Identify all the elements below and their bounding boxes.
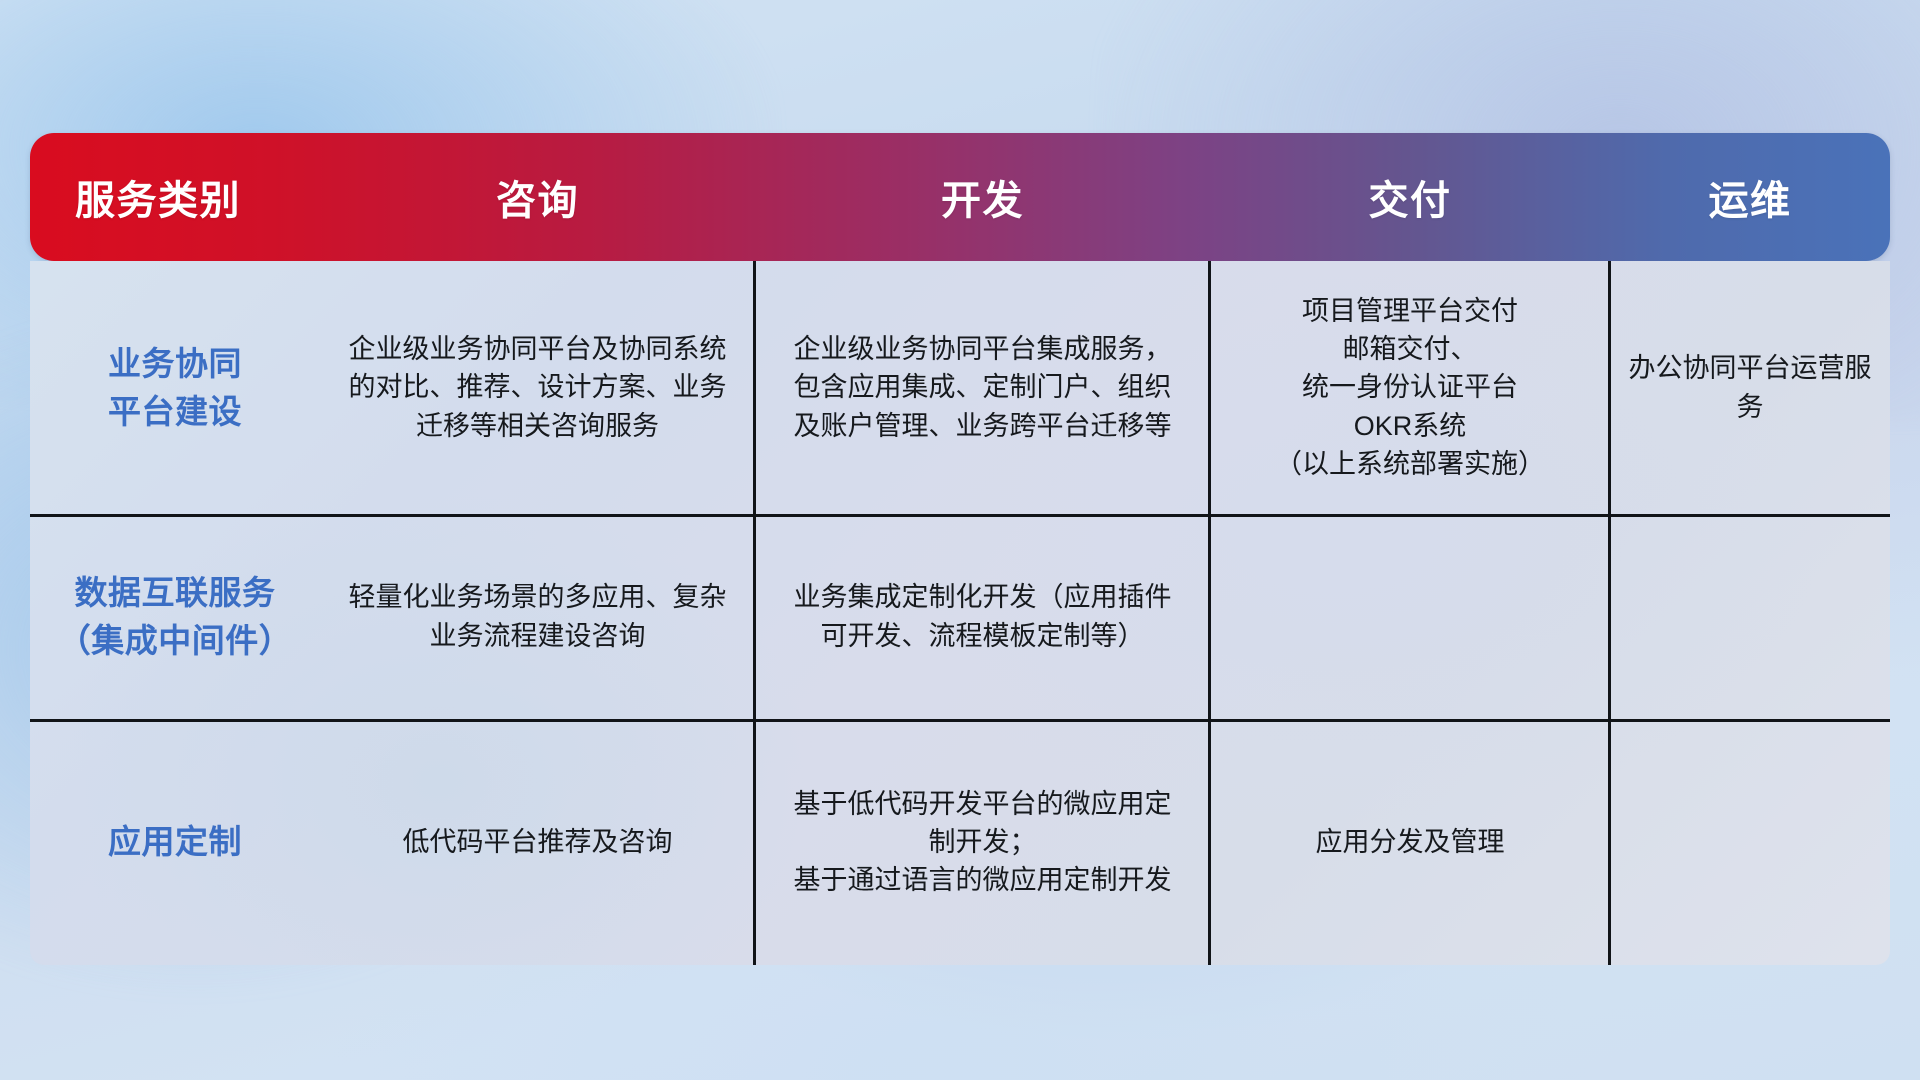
- cell-category: 数据互联服务 （集成中间件）: [30, 514, 320, 719]
- cell-delivery: 应用分发及管理: [1210, 719, 1610, 965]
- cell-operations: [1610, 719, 1890, 965]
- column-divider-1: [753, 261, 756, 965]
- cell-consulting: 轻量化业务场景的多应用、复杂业务流程建设咨询: [320, 514, 755, 719]
- table-row: 数据互联服务 （集成中间件） 轻量化业务场景的多应用、复杂业务流程建设咨询 业务…: [30, 514, 1890, 719]
- service-matrix-table: 服务类别 咨询 开发 交付 运维 业务协同 平台建设 企业级业务协同平台及协同系…: [30, 133, 1890, 965]
- column-divider-3: [1608, 261, 1611, 965]
- cell-operations: [1610, 514, 1890, 719]
- column-header-consulting: 咨询: [320, 168, 755, 226]
- cell-category: 应用定制: [30, 719, 320, 965]
- table-row: 业务协同 平台建设 企业级业务协同平台及协同系统的对比、推荐、设计方案、业务迁移…: [30, 261, 1890, 514]
- cell-development: 业务集成定制化开发（应用插件可开发、流程模板定制等）: [755, 514, 1210, 719]
- cell-consulting: 低代码平台推荐及咨询: [320, 719, 755, 965]
- column-header-development: 开发: [755, 168, 1210, 226]
- table-body: 业务协同 平台建设 企业级业务协同平台及协同系统的对比、推荐、设计方案、业务迁移…: [30, 261, 1890, 965]
- cell-development: 企业级业务协同平台集成服务，包含应用集成、定制门户、组织及账户管理、业务跨平台迁…: [755, 261, 1210, 514]
- cell-category: 业务协同 平台建设: [30, 261, 320, 514]
- table-row: 应用定制 低代码平台推荐及咨询 基于低代码开发平台的微应用定制开发； 基于通过语…: [30, 719, 1890, 965]
- cell-consulting: 企业级业务协同平台及协同系统的对比、推荐、设计方案、业务迁移等相关咨询服务: [320, 261, 755, 514]
- column-header-operations: 运维: [1610, 168, 1890, 226]
- column-header-category: 服务类别: [30, 168, 320, 226]
- cell-delivery: [1210, 514, 1610, 719]
- column-divider-2: [1208, 261, 1211, 965]
- table-header-row: 服务类别 咨询 开发 交付 运维: [30, 133, 1890, 261]
- row-divider-1: [30, 514, 1890, 517]
- cell-operations: 办公协同平台运营服务: [1610, 261, 1890, 514]
- cell-delivery: 项目管理平台交付 邮箱交付、 统一身份认证平台 OKR系统 （以上系统部署实施）: [1210, 261, 1610, 514]
- cell-development: 基于低代码开发平台的微应用定制开发； 基于通过语言的微应用定制开发: [755, 719, 1210, 965]
- row-divider-2: [30, 719, 1890, 722]
- column-header-delivery: 交付: [1210, 168, 1610, 226]
